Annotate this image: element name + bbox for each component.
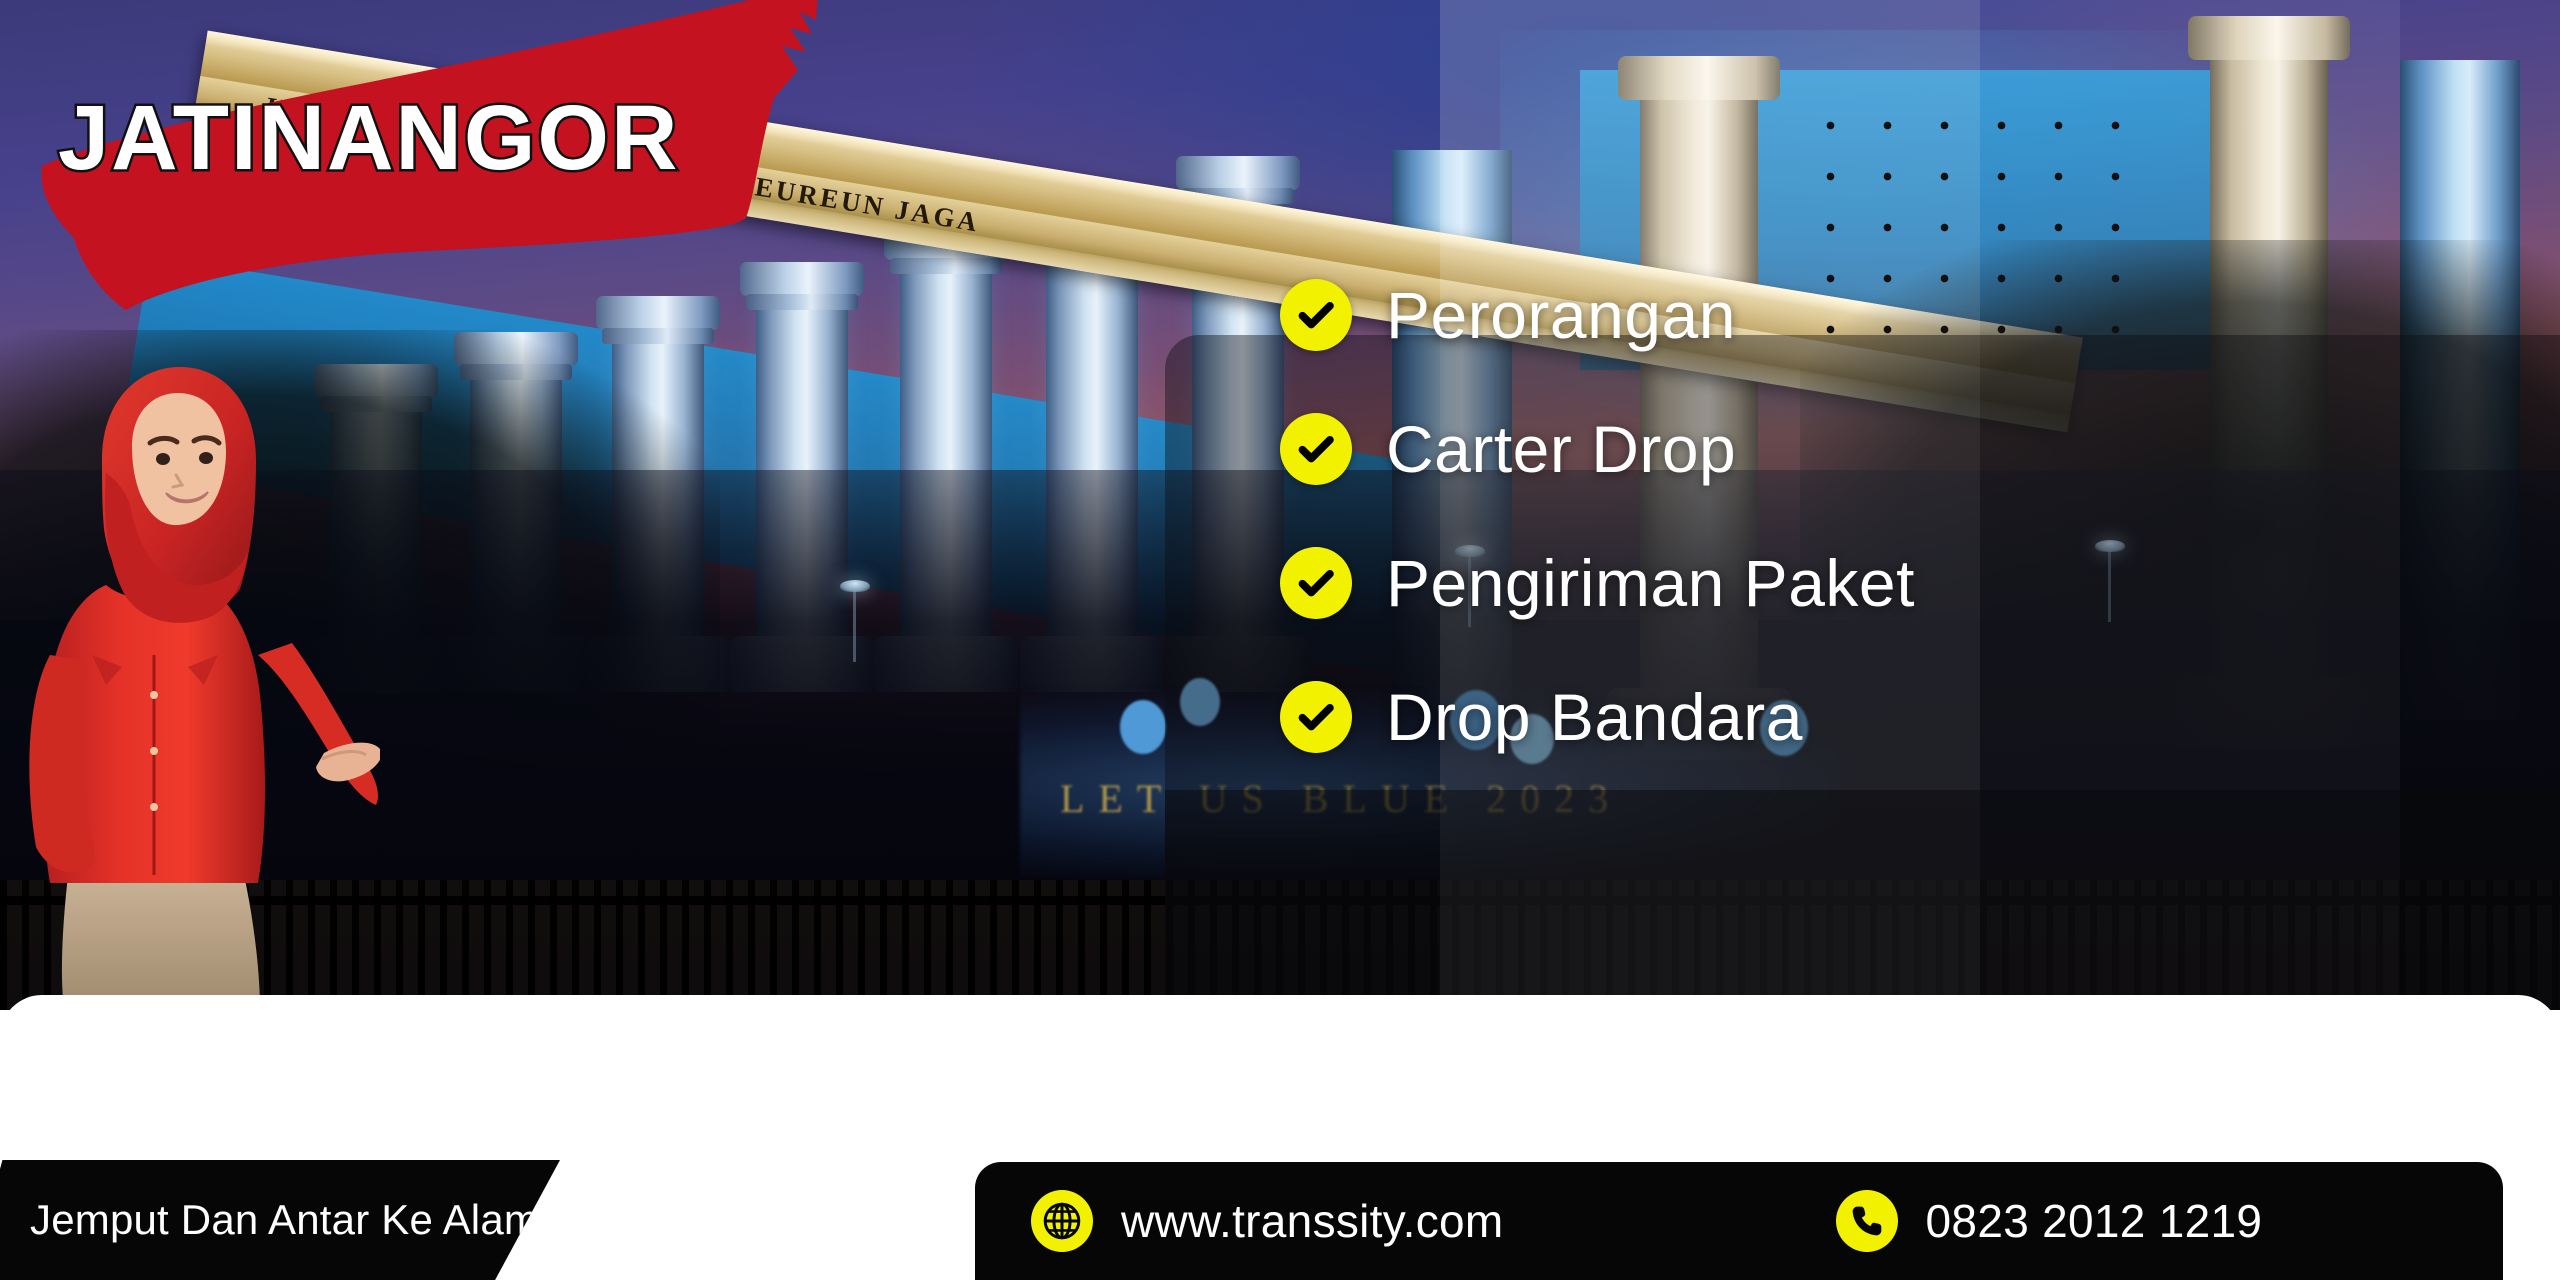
pickup-label: Jemput Dan Antar Ke Alamat [30, 1196, 575, 1244]
phone-contact[interactable]: 0823 2012 1219 [1836, 1190, 2263, 1252]
check-icon [1280, 279, 1352, 351]
phone-label: 0823 2012 1219 [1926, 1194, 2263, 1248]
check-icon [1280, 681, 1352, 753]
street-lamp [840, 580, 870, 592]
presenter-photo [10, 355, 380, 1010]
service-item[interactable]: Perorangan [1280, 248, 2540, 382]
pickup-badge[interactable]: Jemput Dan Antar Ke Alamat [0, 1160, 560, 1280]
service-label: Drop Bandara [1386, 679, 1803, 755]
service-item[interactable]: Drop Bandara [1280, 650, 2540, 784]
promo-banner: KU BIHARI SEJA AYEUNA SAMPEUREUN JAGA LE… [0, 0, 2560, 1280]
service-label: Carter Drop [1386, 411, 1736, 487]
services-checklist: Perorangan Carter Drop Pengiriman Paket … [1280, 248, 2540, 784]
website-contact[interactable]: www.transsity.com [1031, 1190, 1504, 1252]
service-label: Pengiriman Paket [1386, 545, 1915, 621]
balloon [1120, 700, 1166, 754]
service-label: Perorangan [1386, 277, 1736, 353]
contact-bar: www.transsity.com 0823 2012 1219 [975, 1162, 2503, 1280]
check-icon [1280, 547, 1352, 619]
website-label: www.transsity.com [1121, 1194, 1504, 1248]
globe-icon [1031, 1190, 1093, 1252]
service-item[interactable]: Carter Drop [1280, 382, 2540, 516]
phone-icon [1836, 1190, 1898, 1252]
check-icon [1280, 413, 1352, 485]
overlay-dark-panel-2 [1165, 790, 2560, 1010]
service-item[interactable]: Pengiriman Paket [1280, 516, 2540, 650]
page-title: JATINANGOR [58, 86, 679, 191]
